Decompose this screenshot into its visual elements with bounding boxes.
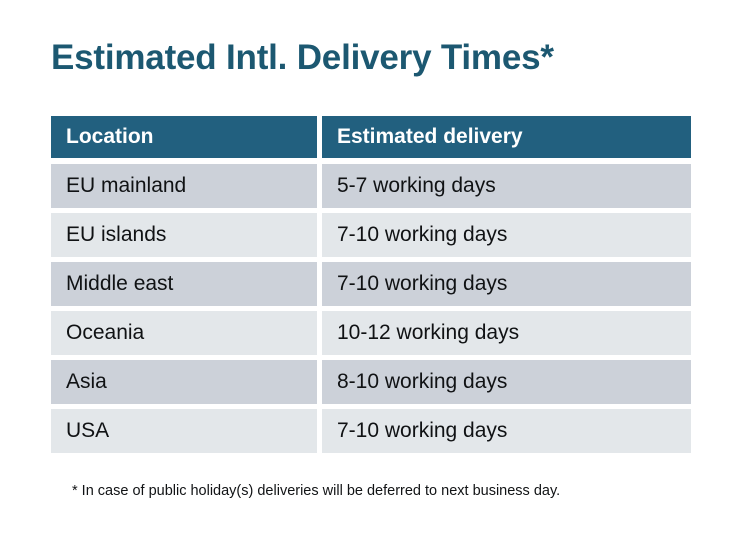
column-header-estimated-delivery: Estimated delivery — [322, 116, 691, 158]
cell-location: EU islands — [51, 213, 317, 257]
page-title: Estimated Intl. Delivery Times* — [51, 36, 554, 80]
delivery-times-page: Estimated Intl. Delivery Times* Location… — [0, 0, 745, 536]
table-row: USA 7-10 working days — [51, 409, 691, 453]
cell-location: USA — [51, 409, 317, 453]
cell-delivery: 7-10 working days — [322, 213, 691, 257]
cell-delivery: 7-10 working days — [322, 409, 691, 453]
cell-location: EU mainland — [51, 164, 317, 208]
cell-delivery: 5-7 working days — [322, 164, 691, 208]
table-row: Oceania 10-12 working days — [51, 311, 691, 355]
cell-delivery: 7-10 working days — [322, 262, 691, 306]
delivery-times-table: Location Estimated delivery EU mainland … — [51, 116, 691, 458]
table-header-row: Location Estimated delivery — [51, 116, 691, 158]
column-header-location: Location — [51, 116, 317, 158]
cell-location: Oceania — [51, 311, 317, 355]
table-row: Middle east 7-10 working days — [51, 262, 691, 306]
cell-location: Asia — [51, 360, 317, 404]
cell-location: Middle east — [51, 262, 317, 306]
footnote-text: * In case of public holiday(s) deliverie… — [72, 481, 560, 501]
table-row: EU islands 7-10 working days — [51, 213, 691, 257]
cell-delivery: 8-10 working days — [322, 360, 691, 404]
table-row: Asia 8-10 working days — [51, 360, 691, 404]
table-row: EU mainland 5-7 working days — [51, 164, 691, 208]
cell-delivery: 10-12 working days — [322, 311, 691, 355]
